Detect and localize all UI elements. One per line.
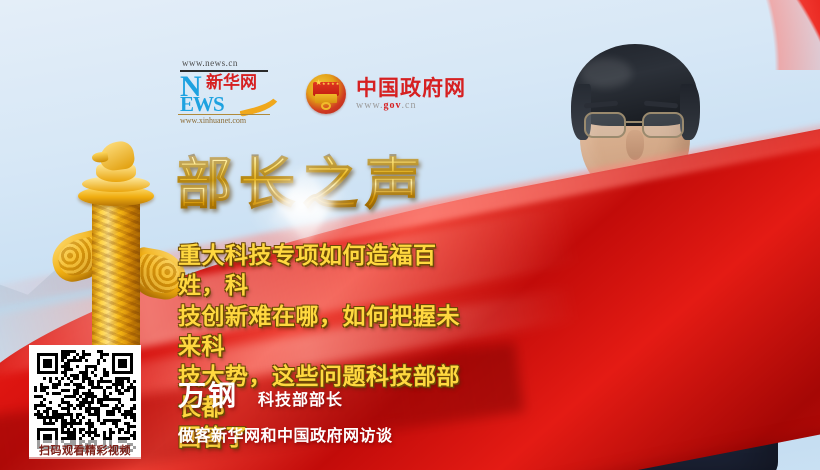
guest-name-row: 万钢 科技部部长 xyxy=(178,374,393,414)
poster-root: www.news.cn N 新华网 EWS www.xinhuanet.com … xyxy=(0,0,820,470)
gov-cn-logo[interactable]: 中国政府网 www.gov.cn xyxy=(306,74,466,114)
xinhua-cn-name: 新华网 xyxy=(206,74,257,92)
huabiao-column xyxy=(56,142,176,372)
xinhua-bottom-rule xyxy=(178,114,270,115)
qr-caption: 扫码观看精彩视频 xyxy=(29,440,141,459)
title-block: 部长之声 xyxy=(176,156,428,212)
gov-url-main: gov xyxy=(384,100,402,111)
gov-url-suffix: .cn xyxy=(402,100,417,111)
guest-role: 科技部部长 xyxy=(258,386,343,410)
description-line: 重大科技专项如何造福百姓，科 xyxy=(178,240,478,301)
xinhua-bottom-url: www.xinhuanet.com xyxy=(180,116,246,125)
gov-site-name: 中国政府网 xyxy=(356,77,466,100)
gov-text-block: 中国政府网 www.gov.cn xyxy=(356,77,466,111)
guest-info-block: 万钢 科技部部长 做客新华网和中国政府网访谈 xyxy=(178,374,393,446)
mythical-beast-icon xyxy=(98,140,136,172)
guest-name: 万钢 xyxy=(178,374,238,414)
emblem-wheel xyxy=(321,102,331,110)
guest-subtitle: 做客新华网和中国政府网访谈 xyxy=(178,422,393,446)
xinhuanet-logo[interactable]: www.news.cn N 新华网 EWS www.xinhuanet.com xyxy=(176,58,280,130)
gov-url-prefix: www. xyxy=(356,100,384,111)
xinhua-news-text: EWS xyxy=(180,94,224,115)
logo-bar: www.news.cn N 新华网 EWS www.xinhuanet.com … xyxy=(176,58,466,130)
qr-code-canvas xyxy=(34,350,136,452)
page-title: 部长之声 xyxy=(176,156,428,212)
gov-site-url: www.gov.cn xyxy=(356,100,466,111)
xinhua-top-url: www.news.cn xyxy=(182,58,238,68)
national-emblem-icon xyxy=(306,74,346,114)
description-line: 技创新难在哪，如何把握未来科 xyxy=(178,301,478,362)
